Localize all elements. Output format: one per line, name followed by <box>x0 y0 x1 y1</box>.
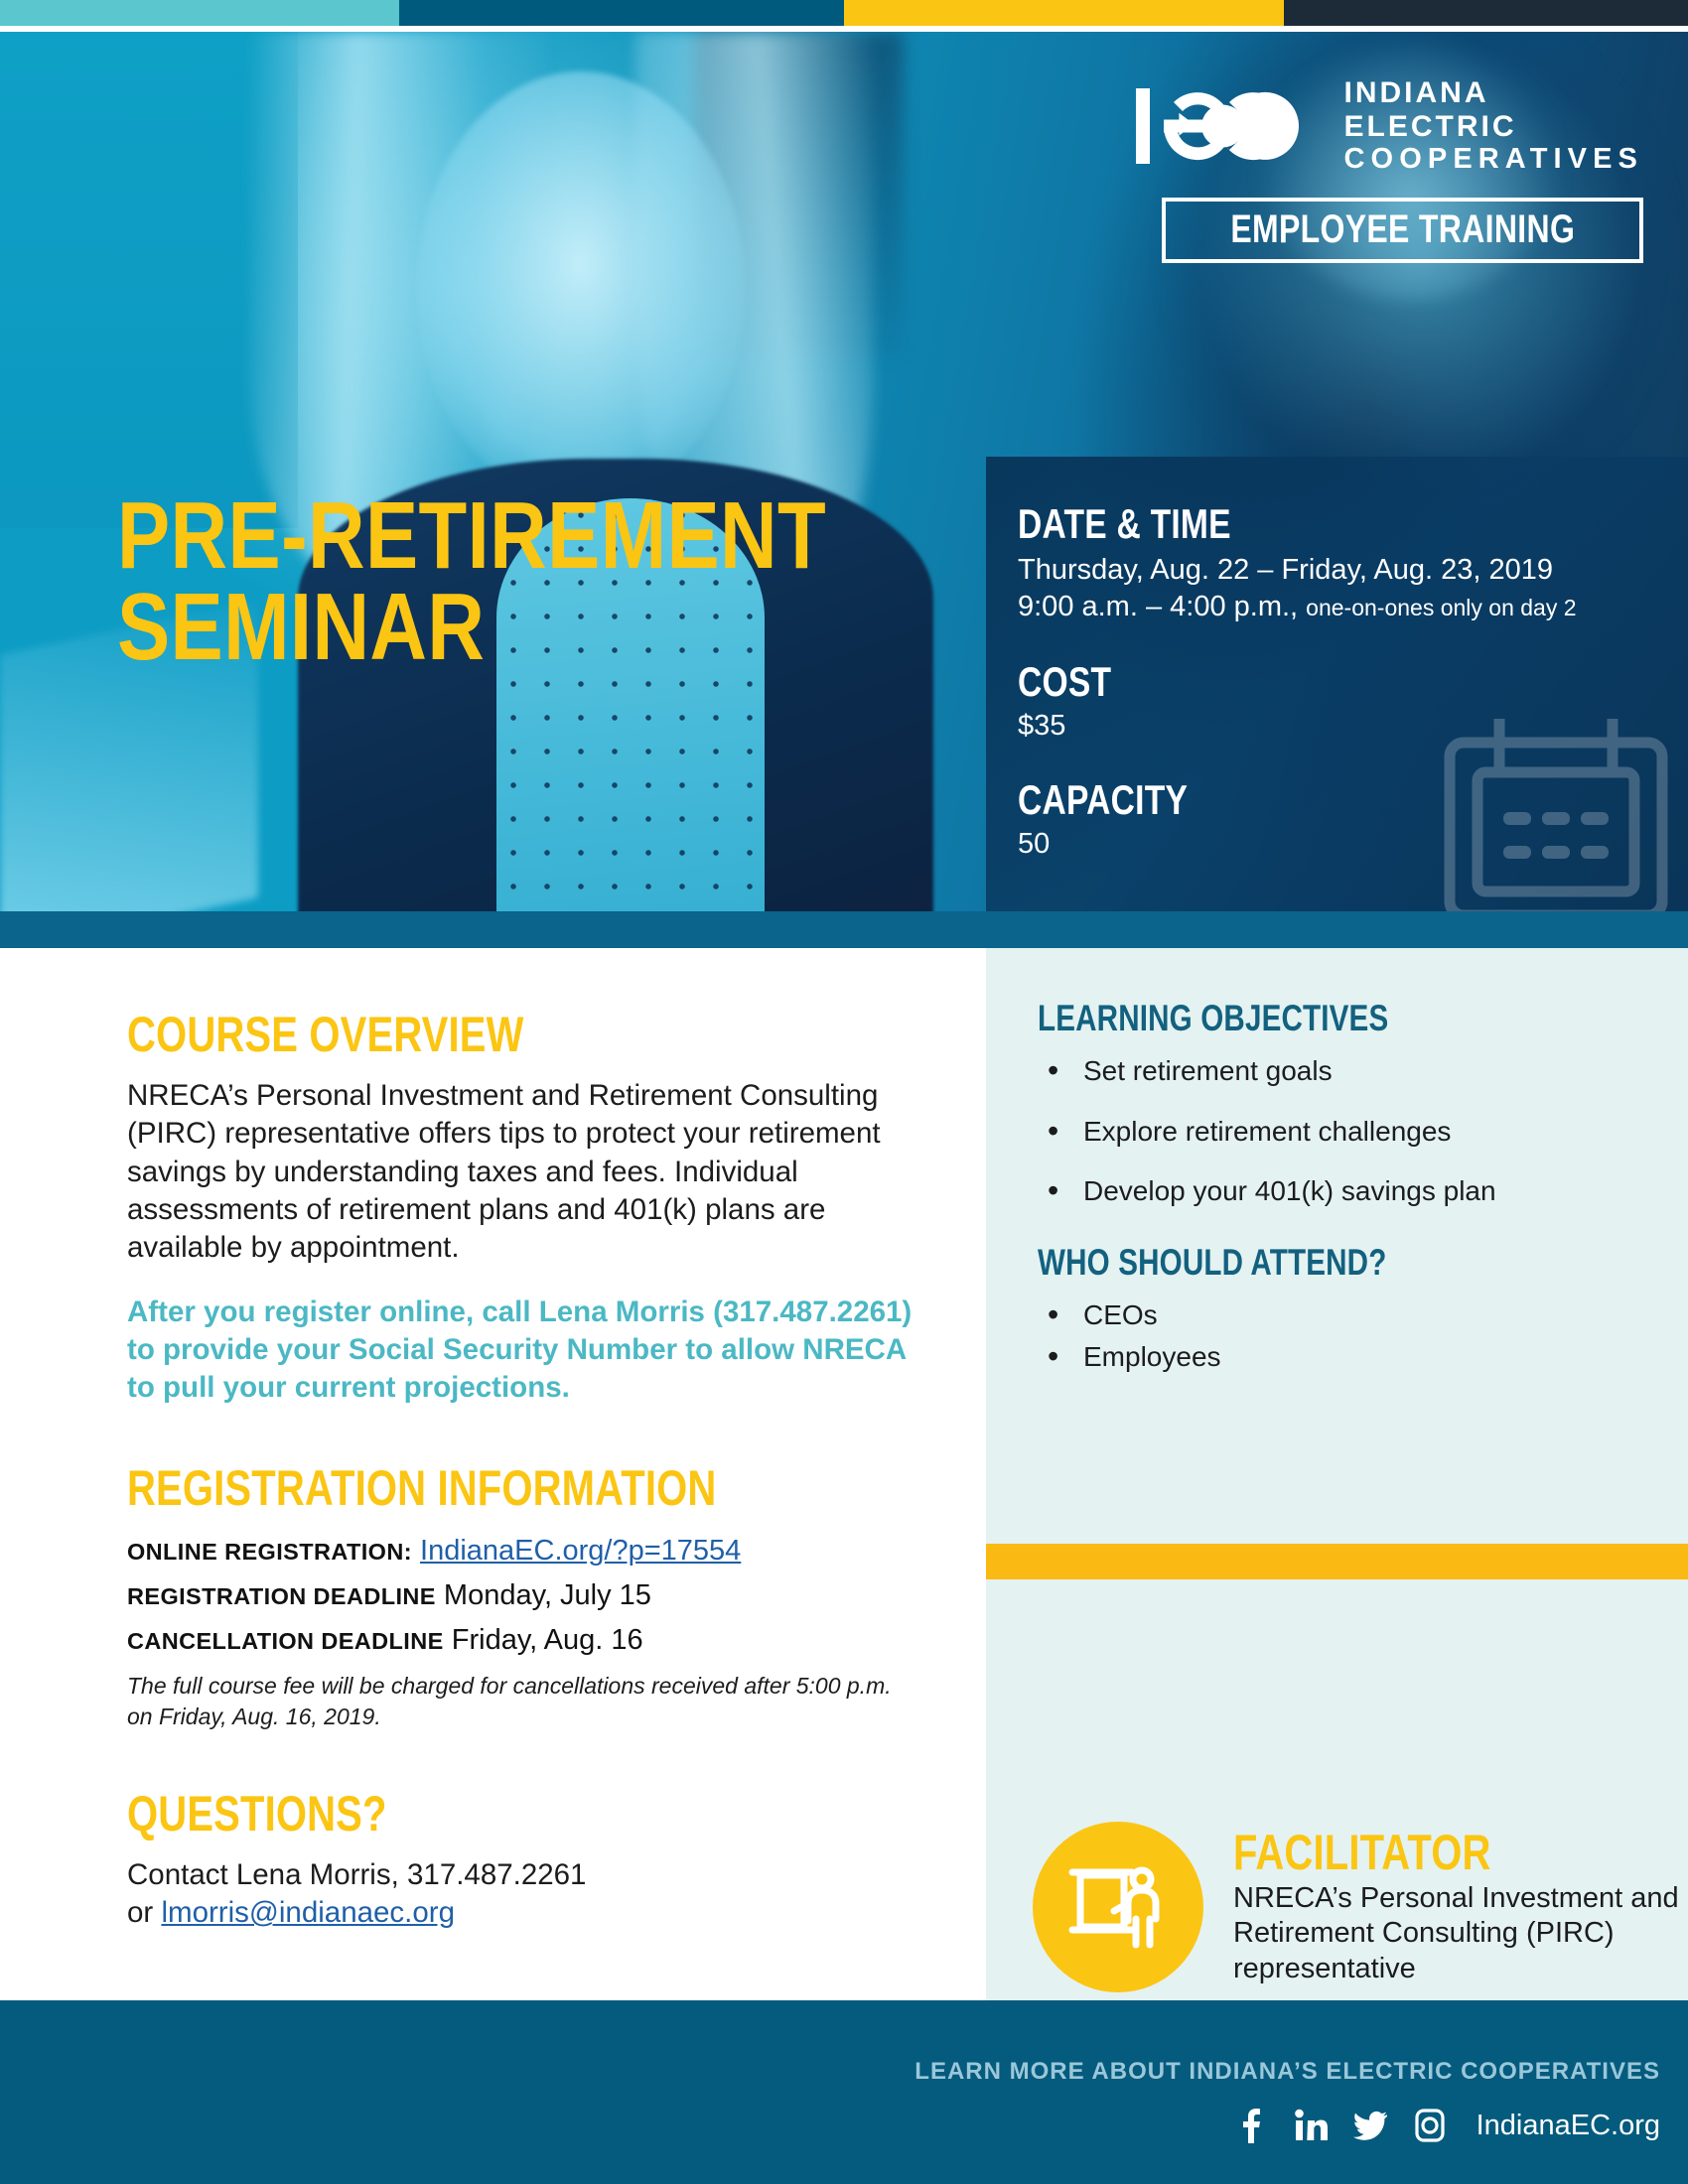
topbar-segment-blue <box>399 0 844 26</box>
right-column-yellow-divider <box>986 1544 1688 1579</box>
list-item: Develop your 401(k) savings plan <box>1044 1174 1648 1208</box>
registration-deadline-label: REGISTRATION DEADLINE <box>127 1583 436 1609</box>
footer-social-bar: IndianaEC.org <box>1234 2108 1660 2143</box>
cancellation-fineprint: The full course fee will be charged for … <box>127 1671 916 1731</box>
online-registration-label: ONLINE REGISTRATION: <box>127 1539 412 1565</box>
page-title-line-2: SEMINAR <box>117 582 826 673</box>
cancellation-deadline-line: CANCELLATION DEADLINE Friday, Aug. 16 <box>127 1620 916 1661</box>
online-registration-link[interactable]: IndianaEC.org/?p=17554 <box>420 1535 741 1567</box>
questions-email-prefix: or <box>127 1896 161 1929</box>
employee-training-badge-label: EMPLOYEE TRAINING <box>1230 207 1575 252</box>
cancellation-deadline-label: CANCELLATION DEADLINE <box>127 1628 444 1654</box>
capacity-value: 50 <box>1018 828 1688 861</box>
questions-heading: QUESTIONS? <box>127 1789 759 1839</box>
topbar-segment-charcoal <box>1284 0 1688 26</box>
who-should-attend-list: CEOs Employees <box>1044 1298 1648 1374</box>
course-overview-paragraph: NRECA’s Personal Investment and Retireme… <box>127 1077 916 1268</box>
footer-tagline: LEARN MORE ABOUT INDIANA’S ELECTRIC COOP… <box>914 2058 1660 2086</box>
cost-value: $35 <box>1018 710 1688 743</box>
who-should-attend-heading: WHO SHOULD ATTEND? <box>1038 1244 1526 1281</box>
employee-training-badge: EMPLOYEE TRAINING <box>1162 198 1643 263</box>
cost-heading: COST <box>1018 658 1554 706</box>
section-divider-band <box>0 911 1688 948</box>
brand-line-2: COOPERATIVES <box>1344 143 1643 175</box>
registration-heading: REGISTRATION INFORMATION <box>127 1463 759 1513</box>
list-item: CEOs <box>1044 1298 1648 1332</box>
instagram-icon[interactable] <box>1413 2108 1447 2143</box>
date-time-dates: Thursday, Aug. 22 – Friday, Aug. 23, 201… <box>1018 554 1553 586</box>
date-time-note: one-on-ones only on day 2 <box>1306 595 1576 620</box>
list-item: Employees <box>1044 1340 1648 1374</box>
facilitator-description: NRECA’s Personal Investment and Retireme… <box>1233 1881 1688 1986</box>
twitter-icon[interactable] <box>1353 2108 1387 2143</box>
online-registration-line: ONLINE REGISTRATION: IndianaEC.org/?p=17… <box>127 1531 916 1571</box>
top-color-bar <box>0 0 1688 26</box>
learning-objectives-heading: LEARNING OBJECTIVES <box>1038 1000 1526 1036</box>
registration-deadline-value: Monday, July 15 <box>444 1579 651 1611</box>
questions-contact: Contact Lena Morris, 317.487.2261 or lmo… <box>127 1856 916 1933</box>
registration-deadline-line: REGISTRATION DEADLINE Monday, July 15 <box>127 1575 916 1616</box>
brand-logo-block: INDIANA ELECTRIC COOPERATIVES EMPLOYEE T… <box>1162 76 1643 263</box>
facilitator-block: FACILITATOR NRECA’s Personal Investment … <box>1033 1822 1688 1992</box>
left-column: COURSE OVERVIEW NRECA’s Personal Investm… <box>0 948 986 2000</box>
facebook-icon[interactable] <box>1234 2108 1268 2143</box>
iec-logo-mark-icon <box>1134 84 1329 168</box>
cancellation-deadline-value: Friday, Aug. 16 <box>452 1624 643 1656</box>
presenter-icon <box>1066 1853 1170 1962</box>
learning-objectives-list: Set retirement goals Explore retirement … <box>1044 1054 1648 1208</box>
page-title-line-1: PRE-RETIREMENT <box>117 490 826 582</box>
topbar-segment-yellow <box>844 0 1284 26</box>
facilitator-icon-badge <box>1033 1822 1203 1992</box>
linkedin-icon[interactable] <box>1294 2108 1328 2143</box>
footer-url[interactable]: IndianaEC.org <box>1477 2110 1660 2142</box>
topbar-segment-teal <box>0 0 399 26</box>
course-overview-heading: COURSE OVERVIEW <box>127 1010 759 1059</box>
footer: LEARN MORE ABOUT INDIANA’S ELECTRIC COOP… <box>0 2000 1688 2184</box>
questions-contact-text: Contact Lena Morris, 317.487.2261 <box>127 1858 586 1891</box>
page-title: PRE-RETIREMENT SEMINAR <box>117 490 971 673</box>
questions-email-link[interactable]: lmorris@indianaec.org <box>161 1896 455 1929</box>
flyer-page: INDIANA ELECTRIC COOPERATIVES EMPLOYEE T… <box>0 0 1688 2184</box>
event-info-panel: DATE & TIME Thursday, Aug. 22 – Friday, … <box>986 457 1688 911</box>
hero-banner: INDIANA ELECTRIC COOPERATIVES EMPLOYEE T… <box>0 32 1688 911</box>
date-time-heading: DATE & TIME <box>1018 500 1554 548</box>
capacity-heading: CAPACITY <box>1018 776 1554 824</box>
list-item: Explore retirement challenges <box>1044 1115 1648 1149</box>
date-time-hours: 9:00 a.m. – 4:00 p.m., <box>1018 591 1298 622</box>
list-item: Set retirement goals <box>1044 1054 1648 1088</box>
course-overview-accent-paragraph: After you register online, call Lena Mor… <box>127 1294 916 1408</box>
brand-line-1: INDIANA ELECTRIC <box>1344 76 1643 143</box>
facilitator-heading: FACILITATOR <box>1233 1828 1597 1877</box>
